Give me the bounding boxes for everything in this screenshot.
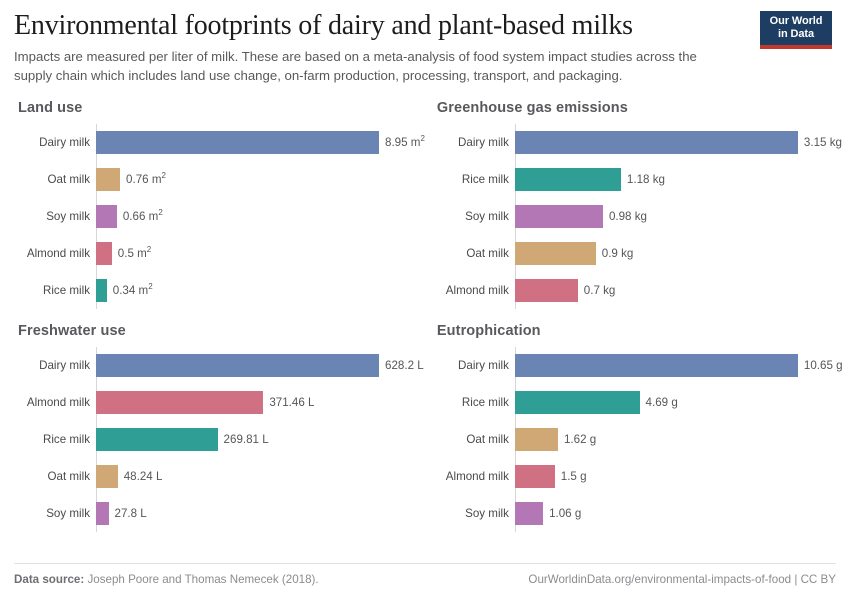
- chart-panel: Land useDairy milk8.95 m2Oat milk0.76 m2…: [14, 100, 425, 309]
- chart-panel: Greenhouse gas emissionsDairy milk3.15 k…: [433, 100, 843, 309]
- bar[interactable]: [96, 391, 263, 414]
- bar[interactable]: [96, 168, 120, 191]
- category-label: Rice milk: [12, 284, 96, 297]
- bar[interactable]: [515, 242, 596, 265]
- panel-plot-area: Dairy milk8.95 m2Oat milk0.76 m2Soy milk…: [14, 124, 425, 309]
- bar-row[interactable]: Oat milk0.9 kg: [515, 235, 843, 272]
- source-url-license[interactable]: OurWorldinData.org/environmental-impacts…: [528, 573, 836, 586]
- data-source: Data source: Joseph Poore and Thomas Nem…: [14, 573, 319, 586]
- bar-row[interactable]: Almond milk371.46 L: [96, 384, 425, 421]
- panel-plot-area: Dairy milk10.65 gRice milk4.69 gOat milk…: [433, 347, 843, 532]
- bar-rows: Dairy milk3.15 kgRice milk1.18 kgSoy mil…: [515, 124, 843, 309]
- panel-plot-area: Dairy milk3.15 kgRice milk1.18 kgSoy mil…: [433, 124, 843, 309]
- bar-value-label: 0.98 kg: [609, 210, 647, 223]
- bar-value-label: 48.24 L: [124, 470, 163, 483]
- bar-rows: Dairy milk628.2 LAlmond milk371.46 LRice…: [96, 347, 425, 532]
- chart-panel: EutrophicationDairy milk10.65 gRice milk…: [433, 323, 843, 532]
- bar-row[interactable]: Almond milk0.5 m2: [96, 235, 425, 272]
- bar-value-label: 3.15 kg: [804, 136, 842, 149]
- bar[interactable]: [96, 354, 379, 377]
- bar[interactable]: [96, 279, 107, 302]
- category-label: Oat milk: [431, 433, 515, 446]
- logo-line-1: Our World: [765, 15, 827, 28]
- panel-title: Freshwater use: [18, 323, 425, 339]
- bar[interactable]: [515, 205, 603, 228]
- bar[interactable]: [515, 428, 558, 451]
- bar[interactable]: [515, 131, 798, 154]
- bar-value-label: 0.7 kg: [584, 284, 616, 297]
- bar[interactable]: [96, 131, 379, 154]
- panel-title: Greenhouse gas emissions: [437, 100, 843, 116]
- category-label: Oat milk: [431, 247, 515, 260]
- bar-value-label: 10.65 g: [804, 359, 843, 372]
- data-source-label: Data source:: [14, 573, 84, 586]
- bar-row[interactable]: Rice milk0.34 m2: [96, 272, 425, 309]
- bar-value-label: 0.34 m2: [113, 284, 153, 297]
- bar-value-label: 27.8 L: [115, 507, 147, 520]
- bar[interactable]: [96, 242, 112, 265]
- bar-value-label: 4.69 g: [646, 396, 678, 409]
- category-label: Dairy milk: [431, 359, 515, 372]
- bar-rows: Dairy milk8.95 m2Oat milk0.76 m2Soy milk…: [96, 124, 425, 309]
- chart-subtitle: Impacts are measured per liter of milk. …: [14, 48, 714, 85]
- bar-value-label: 1.18 kg: [627, 173, 665, 186]
- bar-value-label: 0.66 m2: [123, 210, 163, 223]
- chart-header: Environmental footprints of dairy and pl…: [14, 0, 836, 86]
- bar[interactable]: [515, 465, 555, 488]
- bar-row[interactable]: Rice milk269.81 L: [96, 421, 425, 458]
- bar[interactable]: [96, 465, 118, 488]
- bar-row[interactable]: Oat milk48.24 L: [96, 458, 425, 495]
- bar-value-label: 1.5 g: [561, 470, 587, 483]
- chart-footer: Data source: Joseph Poore and Thomas Nem…: [14, 563, 836, 586]
- category-label: Rice milk: [12, 433, 96, 446]
- bar-value-label: 0.9 kg: [602, 247, 634, 260]
- bar[interactable]: [515, 354, 798, 377]
- panel-title: Eutrophication: [437, 323, 843, 339]
- our-world-in-data-logo[interactable]: Our World in Data: [760, 11, 832, 49]
- bar-value-label: 1.06 g: [549, 507, 581, 520]
- logo-line-2: in Data: [765, 28, 827, 41]
- category-label: Almond milk: [12, 396, 96, 409]
- category-label: Rice milk: [431, 396, 515, 409]
- bar-row[interactable]: Oat milk0.76 m2: [96, 161, 425, 198]
- chart-panel: Freshwater useDairy milk628.2 LAlmond mi…: [14, 323, 425, 532]
- bar[interactable]: [515, 391, 640, 414]
- bar-value-label: 0.5 m2: [118, 247, 151, 260]
- bar-row[interactable]: Dairy milk8.95 m2: [96, 124, 425, 161]
- bar-rows: Dairy milk10.65 gRice milk4.69 gOat milk…: [515, 347, 843, 532]
- category-label: Soy milk: [431, 210, 515, 223]
- bar-row[interactable]: Soy milk27.8 L: [96, 495, 425, 532]
- category-label: Almond milk: [12, 247, 96, 260]
- category-label: Soy milk: [12, 210, 96, 223]
- bar-row[interactable]: Soy milk0.98 kg: [515, 198, 843, 235]
- bar-row[interactable]: Almond milk1.5 g: [515, 458, 843, 495]
- category-label: Oat milk: [12, 173, 96, 186]
- bar[interactable]: [96, 428, 218, 451]
- bar-value-label: 1.62 g: [564, 433, 596, 446]
- category-label: Soy milk: [431, 507, 515, 520]
- category-label: Oat milk: [12, 470, 96, 483]
- bar-value-label: 628.2 L: [385, 359, 424, 372]
- bar-row[interactable]: Rice milk4.69 g: [515, 384, 843, 421]
- bar-row[interactable]: Rice milk1.18 kg: [515, 161, 843, 198]
- bar-row[interactable]: Almond milk0.7 kg: [515, 272, 843, 309]
- bar[interactable]: [96, 502, 109, 525]
- panel-plot-area: Dairy milk628.2 LAlmond milk371.46 LRice…: [14, 347, 425, 532]
- category-label: Dairy milk: [12, 136, 96, 149]
- category-label: Dairy milk: [431, 136, 515, 149]
- category-label: Almond milk: [431, 470, 515, 483]
- bar-row[interactable]: Oat milk1.62 g: [515, 421, 843, 458]
- bar-value-label: 269.81 L: [224, 433, 269, 446]
- category-label: Dairy milk: [12, 359, 96, 372]
- bar-value-label: 0.76 m2: [126, 173, 166, 186]
- category-label: Soy milk: [12, 507, 96, 520]
- bar[interactable]: [515, 279, 578, 302]
- category-label: Almond milk: [431, 284, 515, 297]
- bar-row[interactable]: Dairy milk628.2 L: [96, 347, 425, 384]
- bar[interactable]: [96, 205, 117, 228]
- bar-row[interactable]: Dairy milk10.65 g: [515, 347, 843, 384]
- bar-row[interactable]: Soy milk1.06 g: [515, 495, 843, 532]
- panel-title: Land use: [18, 100, 425, 116]
- bar-row[interactable]: Soy milk0.66 m2: [96, 198, 425, 235]
- bar-value-label: 371.46 L: [269, 396, 314, 409]
- category-label: Rice milk: [431, 173, 515, 186]
- chart-panel-grid: Land useDairy milk8.95 m2Oat milk0.76 m2…: [14, 100, 836, 532]
- data-source-text: Joseph Poore and Thomas Nemecek (2018).: [87, 573, 318, 586]
- bar-row[interactable]: Dairy milk3.15 kg: [515, 124, 843, 161]
- bar[interactable]: [515, 168, 621, 191]
- chart-page: Environmental footprints of dairy and pl…: [0, 0, 850, 600]
- bar-value-label: 8.95 m2: [385, 136, 425, 149]
- page-title: Environmental footprints of dairy and pl…: [14, 10, 836, 42]
- bar[interactable]: [515, 502, 543, 525]
